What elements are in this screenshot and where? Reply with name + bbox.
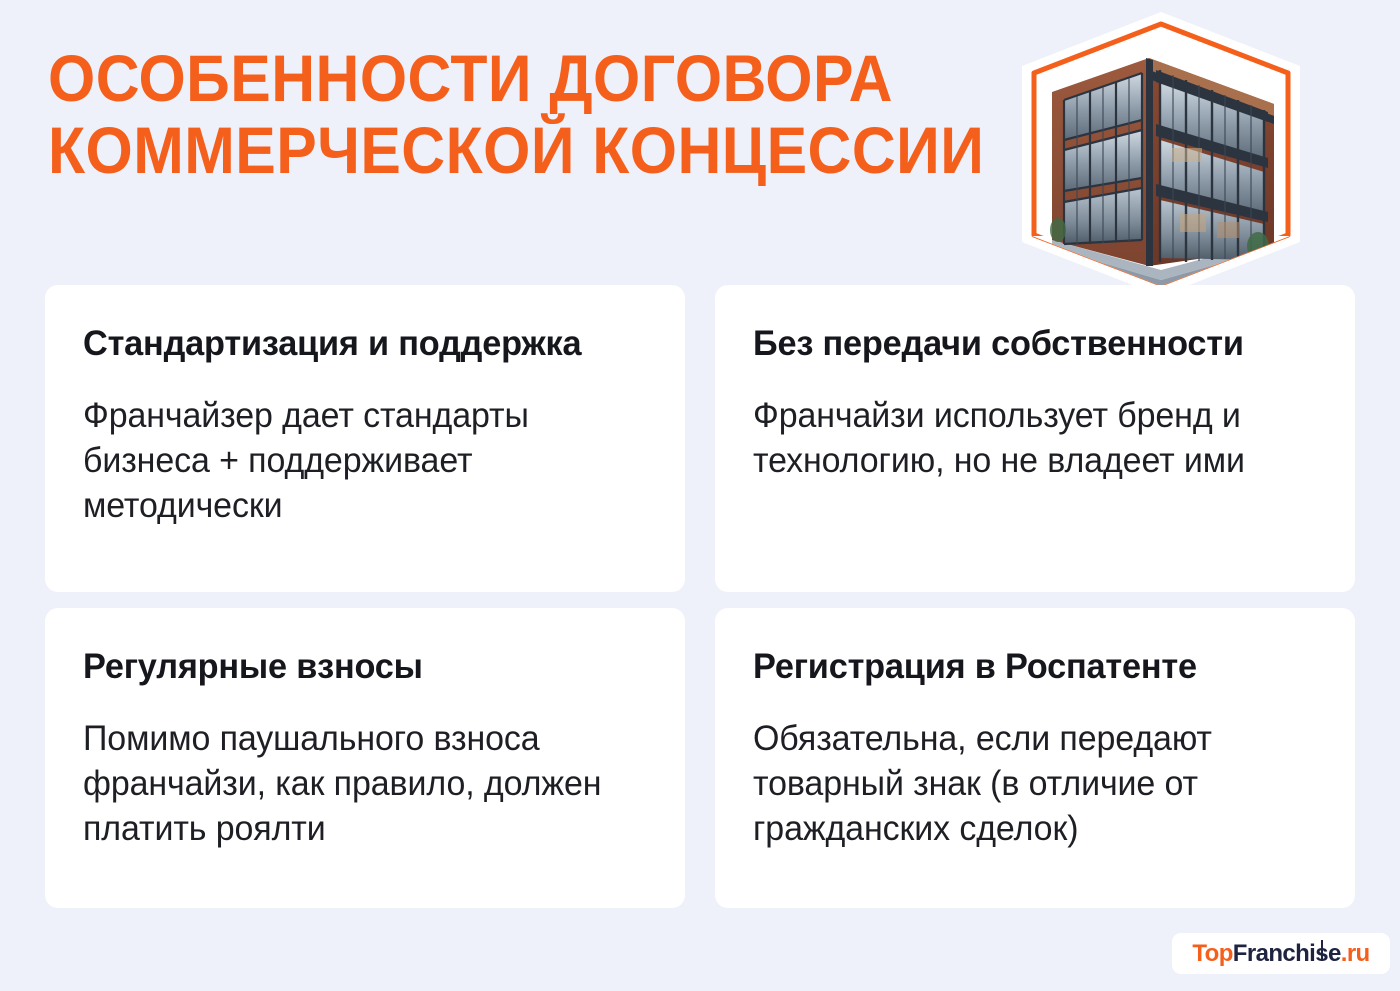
logo-part-top: Top xyxy=(1192,940,1232,967)
card-body: Франчайзи использует бренд и технологию,… xyxy=(753,393,1300,483)
logo-part-s-dollar: s xyxy=(1315,942,1328,966)
logo-text: TopFranchise.ru xyxy=(1192,942,1369,966)
building-illustration-sticker xyxy=(1012,8,1310,300)
infographic-poster: ОСОБЕННОСТИ ДОГОВОРА КОММЕРЧЕСКОЙ КОНЦЕС… xyxy=(0,0,1400,991)
logo-part-e: e xyxy=(1328,940,1341,967)
card-title: Регулярные взносы xyxy=(83,648,636,686)
card-title: Без передачи собственности xyxy=(753,325,1306,363)
page-title: ОСОБЕННОСТИ ДОГОВОРА КОММЕРЧЕСКОЙ КОНЦЕС… xyxy=(48,42,1008,186)
topfranchise-logo[interactable]: TopFranchise.ru xyxy=(1172,933,1390,974)
title-line-2: КОММЕРЧЕСКОЙ КОНЦЕССИИ xyxy=(48,114,931,186)
feature-card-standardization: Стандартизация и поддержка Франчайзер да… xyxy=(45,285,685,592)
feature-card-regular-fees: Регулярные взносы Помимо паушального взн… xyxy=(45,608,685,908)
title-line-1: ОСОБЕННОСТИ ДОГОВОРА xyxy=(48,42,931,114)
logo-part-ru: .ru xyxy=(1341,940,1370,967)
dollar-bar-icon xyxy=(1321,940,1323,961)
card-title: Стандартизация и поддержка xyxy=(83,325,636,363)
card-body: Франчайзер дает стандарты бизнеса + подд… xyxy=(83,393,630,528)
card-body: Помимо паушального взноса франчайзи, как… xyxy=(83,716,630,851)
logo-part-franchi: Franchi xyxy=(1233,940,1315,967)
feature-card-rospatent-registration: Регистрация в Роспатенте Обязательна, ес… xyxy=(715,608,1355,908)
card-body: Обязательна, если передают товарный знак… xyxy=(753,716,1300,851)
card-title: Регистрация в Роспатенте xyxy=(753,648,1306,686)
feature-cards-grid: Стандартизация и поддержка Франчайзер да… xyxy=(45,285,1355,908)
feature-card-no-ownership-transfer: Без передачи собственности Франчайзи исп… xyxy=(715,285,1355,592)
